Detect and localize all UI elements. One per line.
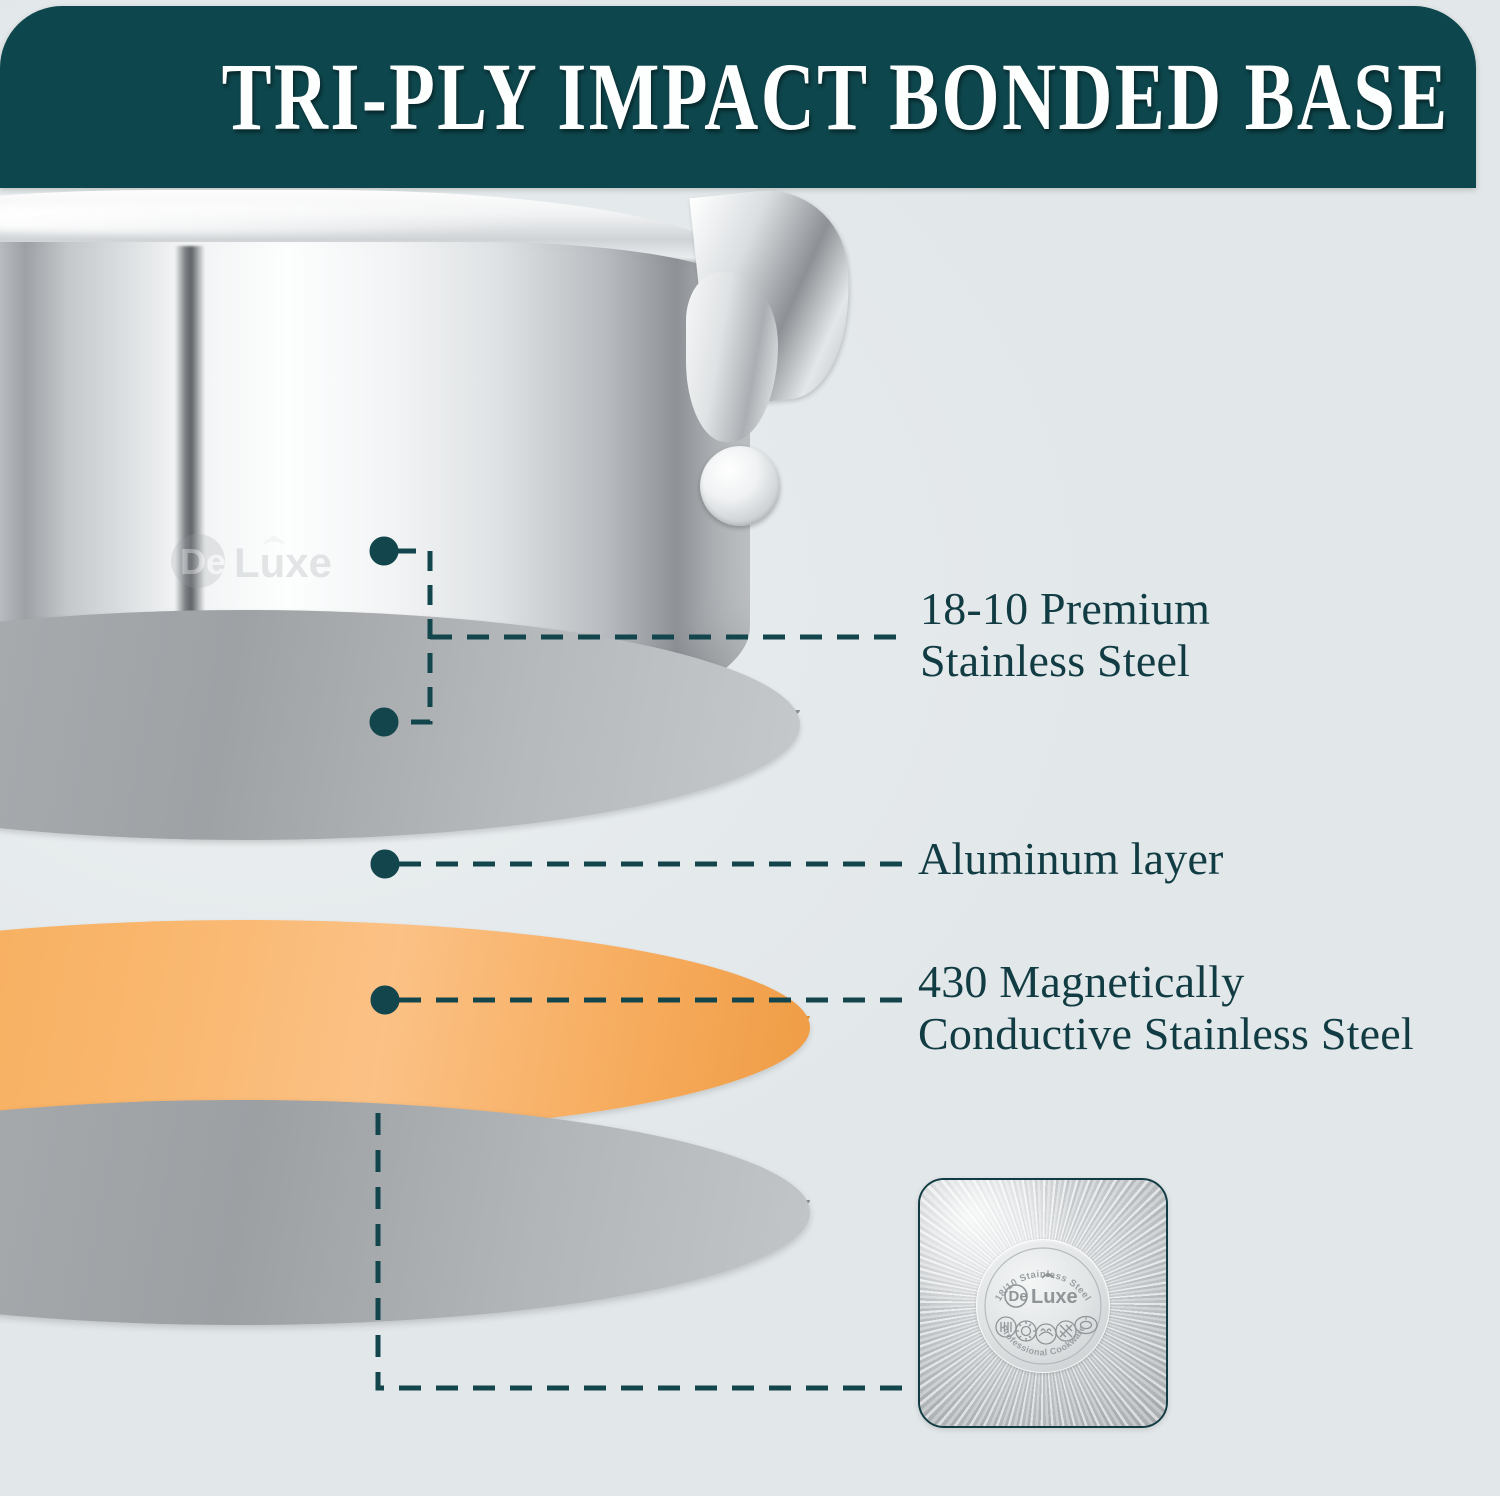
layer-label-aluminum: Aluminum layer bbox=[918, 833, 1224, 885]
ceramic-hob-icon bbox=[1036, 1324, 1056, 1344]
page-title: TRI-PLY IMPACT BONDED BASE bbox=[162, 49, 1313, 145]
pot-handle-neck bbox=[686, 272, 778, 442]
base-stamp-engraving: 18/10 Stainless Steel De Luxe bbox=[976, 1239, 1110, 1373]
infographic-page: TRI-PLY IMPACT BONDED BASE De Luxe bbox=[0, 0, 1500, 1496]
svg-text:Luxe: Luxe bbox=[1031, 1286, 1078, 1308]
exploded-product-illustration: De Luxe bbox=[0, 180, 1000, 1140]
svg-text:De: De bbox=[1009, 1288, 1028, 1305]
handle-rivet bbox=[700, 446, 780, 526]
gas-burner-icon bbox=[1016, 1321, 1036, 1341]
layer-disc-steel-top bbox=[0, 610, 800, 840]
disc-top-face bbox=[0, 1100, 810, 1325]
svg-text:De: De bbox=[180, 541, 226, 582]
layer-label-steel-bottom: 430 Magnetically Conductive Stainless St… bbox=[918, 956, 1414, 1059]
layer-label-steel-top: 18-10 Premium Stainless Steel bbox=[920, 583, 1210, 686]
layer-disc-steel-bottom bbox=[0, 1100, 810, 1325]
disc-top-face bbox=[0, 610, 800, 840]
header-banner: TRI-PLY IMPACT BONDED BASE bbox=[0, 6, 1476, 188]
base-thumbnail[interactable]: 18/10 Stainless Steel De Luxe bbox=[918, 1178, 1168, 1428]
svg-text:Luxe: Luxe bbox=[234, 539, 332, 586]
base-stamp-disc: 18/10 Stainless Steel De Luxe bbox=[976, 1239, 1110, 1373]
pot-brand-logo: De Luxe bbox=[168, 530, 388, 592]
